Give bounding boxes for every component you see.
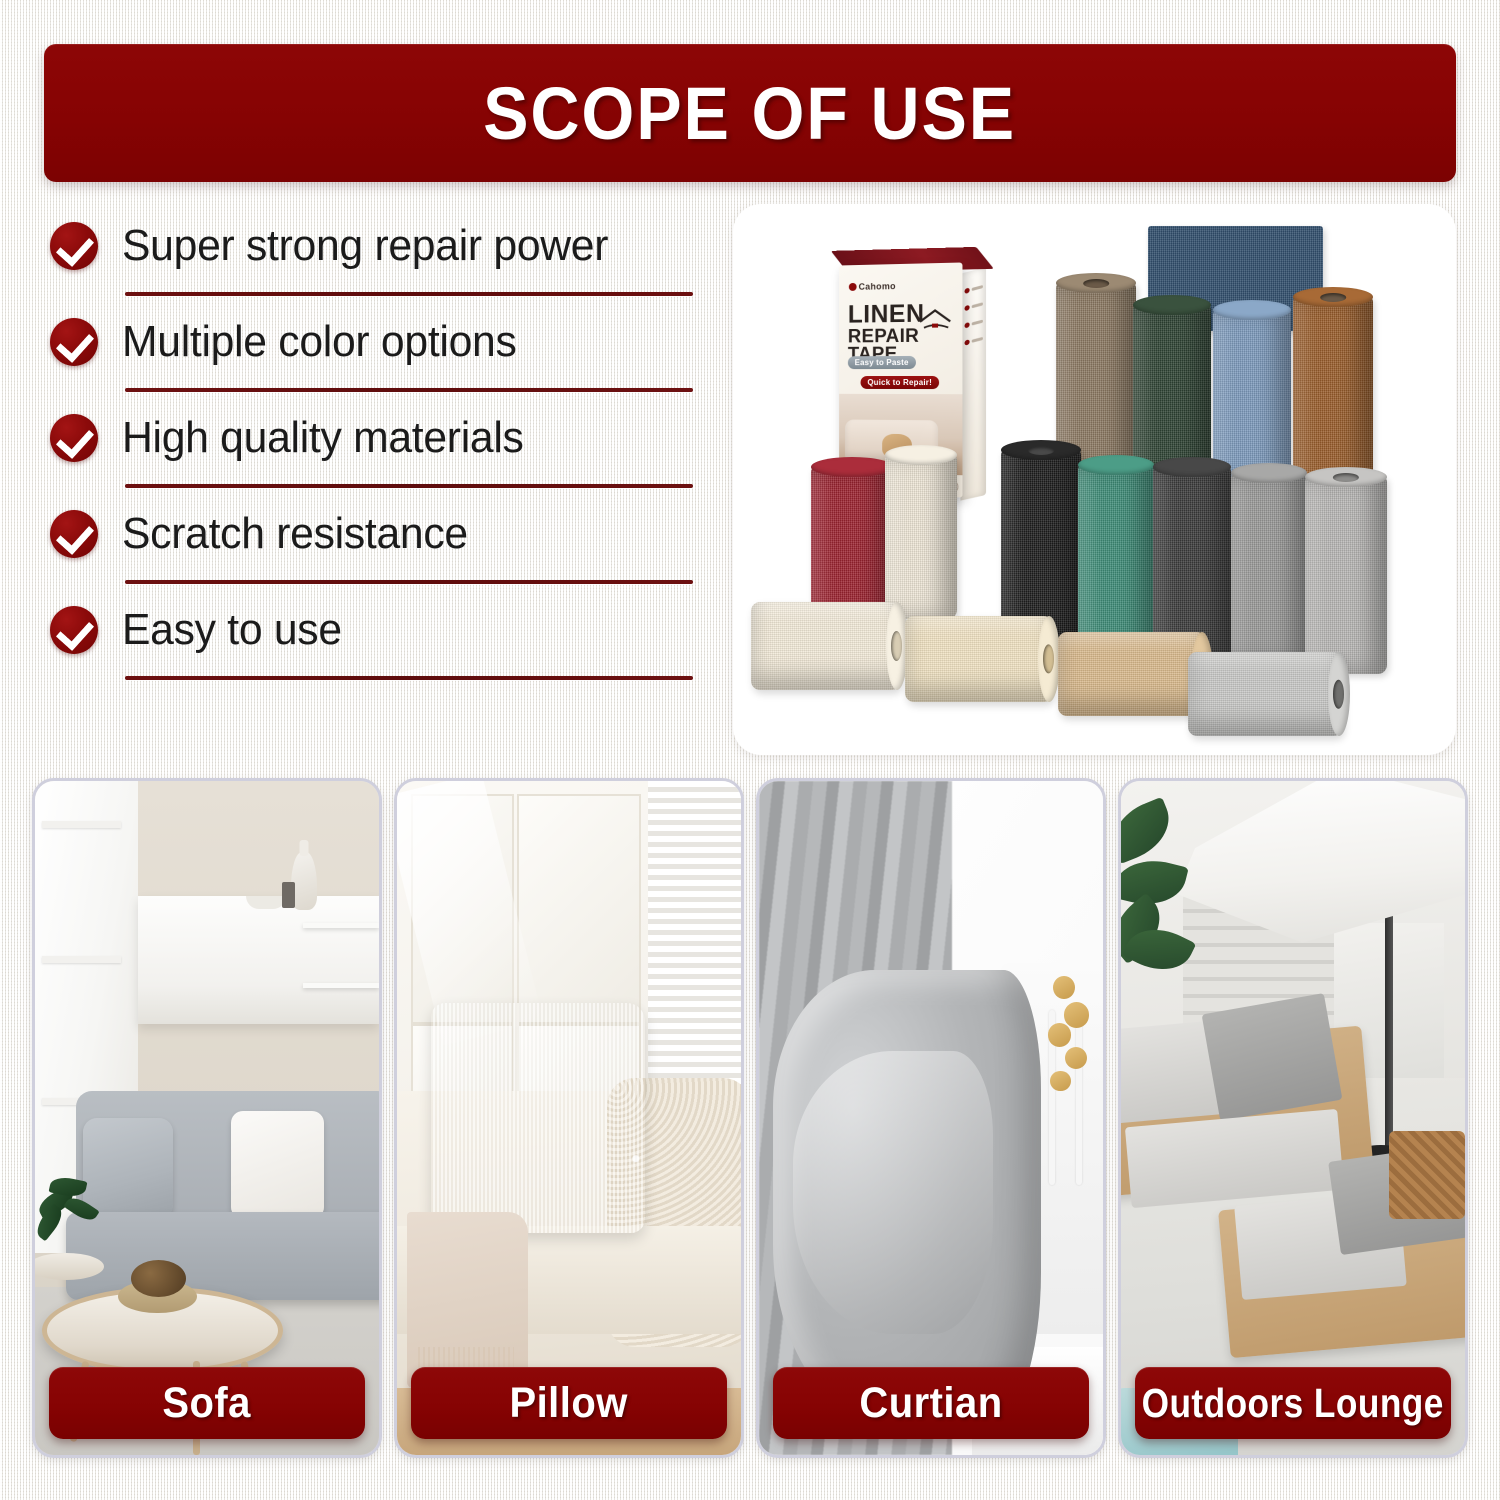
use-case-tile-pillow[interactable]: Pillow bbox=[394, 778, 744, 1458]
feature-list: Super strong repair power Multiple color… bbox=[44, 200, 694, 680]
tile-label-text: Sofa bbox=[163, 1379, 252, 1428]
infographic-page: SCOPE OF USE Super strong repair power M… bbox=[0, 0, 1500, 1500]
sofa-photo bbox=[35, 781, 379, 1455]
tape-roll-silver bbox=[1188, 652, 1343, 736]
use-case-tile-sofa[interactable]: Sofa bbox=[32, 778, 382, 1458]
feature-label: Scratch resistance bbox=[122, 509, 468, 559]
brand-mark-icon bbox=[849, 283, 857, 291]
feature-item-4: Scratch resistance bbox=[44, 488, 694, 580]
feature-label: Multiple color options bbox=[122, 317, 517, 367]
banana-plant bbox=[1121, 794, 1210, 1010]
tile-label-curtain: Curtian bbox=[773, 1367, 1089, 1439]
tile-label-text: Outdoors Lounge bbox=[1142, 1380, 1444, 1427]
check-circle-icon bbox=[50, 318, 98, 366]
header-banner: SCOPE OF USE bbox=[44, 44, 1456, 182]
use-case-tile-curtain[interactable]: Curtian bbox=[756, 778, 1106, 1458]
box-side-panel bbox=[960, 267, 986, 501]
tape-roll-grey bbox=[1231, 472, 1307, 664]
feature-item-2: Multiple color options bbox=[44, 296, 694, 388]
tape-roll-light-blue bbox=[1213, 309, 1291, 487]
product-photo: Cahomo LINEN REPAIR TAPE Easy to Paste Q… bbox=[733, 204, 1456, 755]
feature-item-3: High quality materials bbox=[44, 392, 694, 484]
tile-label-text: Pillow bbox=[510, 1379, 628, 1428]
feature-item-5: Easy to use bbox=[44, 584, 694, 676]
check-circle-icon bbox=[50, 222, 98, 270]
tape-roll-light-grey bbox=[1305, 476, 1387, 674]
feature-item-1: Super strong repair power bbox=[44, 200, 694, 292]
product-image-card: Cahomo LINEN REPAIR TAPE Easy to Paste Q… bbox=[733, 204, 1456, 755]
feature-divider bbox=[125, 676, 693, 680]
tile-label-text: Curtian bbox=[859, 1379, 1002, 1428]
page-title: SCOPE OF USE bbox=[484, 71, 1017, 156]
tile-label-outdoors-lounge: Outdoors Lounge bbox=[1135, 1367, 1451, 1439]
check-circle-icon bbox=[50, 606, 98, 654]
brand-logo: Cahomo bbox=[849, 281, 896, 292]
tile-label-pillow: Pillow bbox=[411, 1367, 727, 1439]
pillow-photo bbox=[397, 781, 741, 1455]
check-circle-icon bbox=[50, 510, 98, 558]
feature-label: High quality materials bbox=[122, 413, 524, 463]
tag-quick-to-repair: Quick to Repair! bbox=[861, 376, 940, 389]
use-case-tile-outdoors-lounge[interactable]: Outdoors Lounge bbox=[1118, 778, 1468, 1458]
dried-flower bbox=[1034, 970, 1096, 1118]
tape-roll-teal-green bbox=[1078, 464, 1154, 654]
tape-roll-ivory bbox=[885, 454, 957, 619]
house-roof-icon bbox=[918, 307, 952, 332]
outdoors-lounge-photo bbox=[1121, 781, 1465, 1455]
tape-roll-cream bbox=[751, 602, 901, 690]
check-circle-icon bbox=[50, 414, 98, 462]
use-case-tiles: Sofa Pillow bbox=[32, 778, 1468, 1458]
tag-easy-to-paste: Easy to Paste bbox=[848, 356, 916, 369]
feature-label: Super strong repair power bbox=[122, 221, 608, 271]
feature-label: Easy to use bbox=[122, 605, 342, 655]
brand-name: Cahomo bbox=[859, 281, 896, 292]
tile-label-sofa: Sofa bbox=[49, 1367, 365, 1439]
tape-roll-brown bbox=[1293, 296, 1373, 492]
tape-roll-tan bbox=[1058, 632, 1206, 716]
tape-roll-beige bbox=[905, 616, 1053, 702]
curtain-photo bbox=[759, 781, 1103, 1455]
